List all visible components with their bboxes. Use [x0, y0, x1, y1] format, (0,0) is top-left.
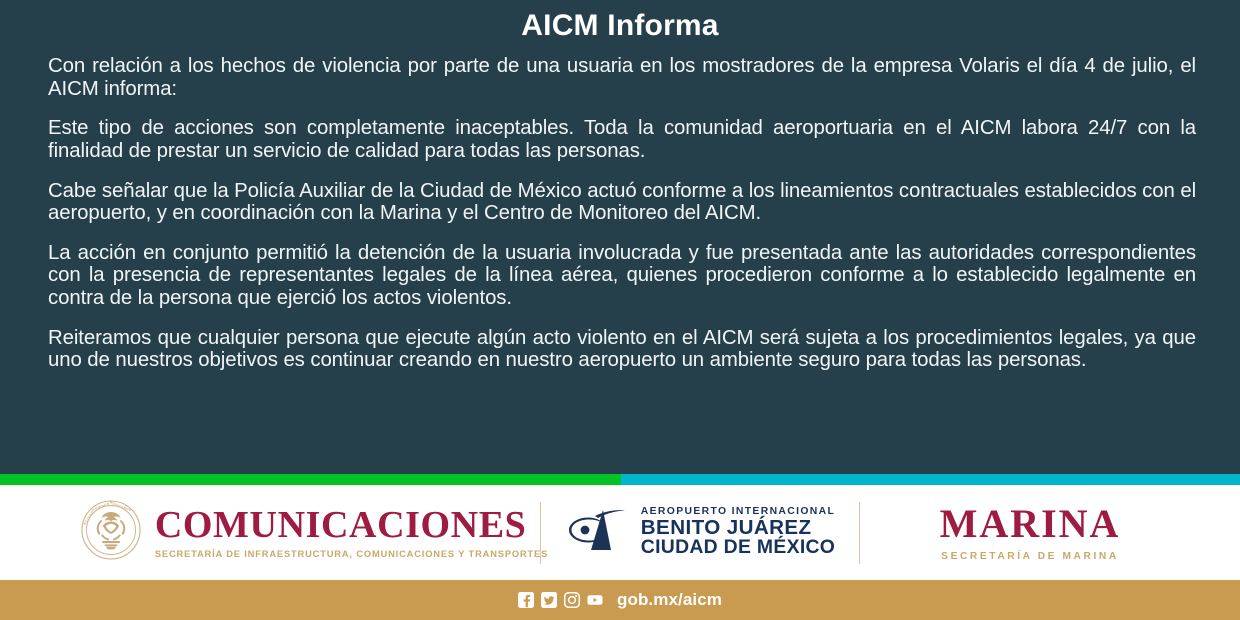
svg-text:UNIDOS: UNIDOS — [94, 502, 110, 511]
gobmx-url-label[interactable]: gob.mx/aicm — [617, 590, 722, 610]
marina-subtitle: SECRETARÍA DE MARINA — [940, 551, 1121, 562]
announcement-body: Con relación a los hechos de violencia p… — [0, 55, 1240, 372]
youtube-icon[interactable] — [587, 592, 603, 608]
aicm-informa-poster: AICM Informa Con relación a los hechos d… — [0, 0, 1240, 620]
paragraph-2: Este tipo de acciones son completamente … — [48, 117, 1196, 162]
accent-stripe — [0, 474, 1240, 485]
aicm-isotipo-icon — [565, 506, 631, 559]
paragraph-3: Cabe señalar que la Policía Auxiliar de … — [48, 180, 1196, 225]
social-bar: gob.mx/aicm — [0, 580, 1240, 620]
aicm-line-3: CIUDAD DE MÉXICO — [641, 538, 835, 558]
facebook-icon[interactable] — [518, 592, 534, 608]
page-title: AICM Informa — [0, 0, 1240, 43]
logo-band: ESTADOS UNIDOS MEXICANOS COMUNICACIONES … — [0, 485, 1240, 580]
stripe-segment-cyan — [621, 474, 1240, 485]
logo-aicm: AEROPUERTO INTERNACIONAL BENITO JUÁREZ C… — [541, 495, 859, 571]
marina-wordmark: MARINA — [940, 504, 1121, 544]
instagram-icon[interactable] — [564, 592, 580, 608]
logo-sict: ESTADOS UNIDOS MEXICANOS COMUNICACIONES … — [40, 495, 540, 571]
stripe-segment-green — [0, 474, 621, 485]
twitter-icon[interactable] — [541, 592, 557, 608]
logo-marina: MARINA SECRETARÍA DE MARINA — [860, 495, 1200, 571]
announcement-content: AICM Informa Con relación a los hechos d… — [0, 0, 1240, 474]
escudo-nacional-mexicano-icon: ESTADOS UNIDOS MEXICANOS — [80, 499, 142, 566]
paragraph-5: Reiteramos que cualquier persona que eje… — [48, 327, 1196, 372]
paragraph-1: Con relación a los hechos de violencia p… — [48, 55, 1196, 100]
sict-wordmark: COMUNICACIONES — [155, 506, 548, 544]
paragraph-4: La acción en conjunto permitió la detenc… — [48, 242, 1196, 310]
sict-subtitle: SECRETARÍA DE INFRAESTRUCTURA, COMUNICAC… — [155, 549, 548, 559]
